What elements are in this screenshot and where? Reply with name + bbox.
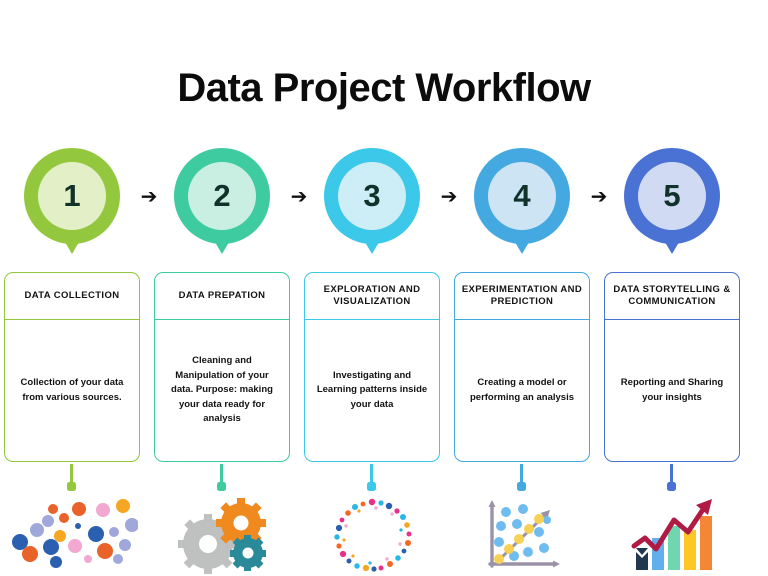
step-pin-2[interactable]: 2 bbox=[174, 148, 270, 244]
step-card-description-3: Investigating and Learning patterns insi… bbox=[305, 320, 439, 461]
step-card-description-5: Reporting and Sharing your insights bbox=[605, 320, 739, 461]
card-connector-dot-2 bbox=[217, 482, 226, 491]
step-arrow-icon-4: ➔ bbox=[586, 186, 612, 208]
card-connector-dot-1 bbox=[67, 482, 76, 491]
step-card-title-1: DATA COLLECTION bbox=[5, 273, 139, 320]
pin-number-1: 1 bbox=[38, 162, 106, 230]
step-card-description-2: Cleaning and Manipulation of your data. … bbox=[155, 320, 289, 461]
step-card-description-4: Creating a model or performing an analys… bbox=[455, 320, 589, 461]
pin-number-3: 3 bbox=[338, 162, 406, 230]
page-title: Data Project Workflow bbox=[0, 66, 768, 111]
card-connector-dot-4 bbox=[517, 482, 526, 491]
step-pin-4[interactable]: 4 bbox=[474, 148, 570, 244]
step-card-2[interactable]: DATA PREPATION Cleaning and Manipulation… bbox=[154, 272, 290, 462]
step-arrow-icon-1: ➔ bbox=[136, 186, 162, 208]
step-pin-1[interactable]: 1 bbox=[24, 148, 120, 244]
card-connector-dot-3 bbox=[367, 482, 376, 491]
bar-chart-growth-icon bbox=[630, 496, 722, 574]
cards-row: DATA COLLECTION Collection of your data … bbox=[0, 272, 768, 464]
gears-icon bbox=[178, 496, 270, 574]
step-pin-5[interactable]: 5 bbox=[624, 148, 720, 244]
step-card-title-2: DATA PREPATION bbox=[155, 273, 289, 320]
step-card-1[interactable]: DATA COLLECTION Collection of your data … bbox=[4, 272, 140, 462]
pin-number-4: 4 bbox=[488, 162, 556, 230]
card-connector-dot-5 bbox=[667, 482, 676, 491]
step-card-4[interactable]: EXPERIMENTATION AND PREDICTION Creating … bbox=[454, 272, 590, 462]
step-card-3[interactable]: EXPLORATION AND VISUALIZATION Investigat… bbox=[304, 272, 440, 462]
step-card-title-5: DATA STORYTELLING & COMMUNICATION bbox=[605, 273, 739, 320]
step-card-description-1: Collection of your data from various sou… bbox=[5, 320, 139, 461]
pin-number-5: 5 bbox=[638, 162, 706, 230]
step-arrow-icon-3: ➔ bbox=[436, 186, 462, 208]
steps-row: 1 ➔ 2 ➔ 3 ➔ 4 ➔ 5 bbox=[0, 148, 768, 258]
step-card-title-3: EXPLORATION AND VISUALIZATION bbox=[305, 273, 439, 320]
step-card-5[interactable]: DATA STORYTELLING & COMMUNICATION Report… bbox=[604, 272, 740, 462]
scattered-dots-icon bbox=[8, 496, 138, 574]
pin-number-2: 2 bbox=[188, 162, 256, 230]
scatter-plot-icon bbox=[482, 496, 568, 574]
dot-ring-icon bbox=[330, 496, 414, 574]
step-arrow-icon-2: ➔ bbox=[286, 186, 312, 208]
step-card-title-4: EXPERIMENTATION AND PREDICTION bbox=[455, 273, 589, 320]
step-pin-3[interactable]: 3 bbox=[324, 148, 420, 244]
